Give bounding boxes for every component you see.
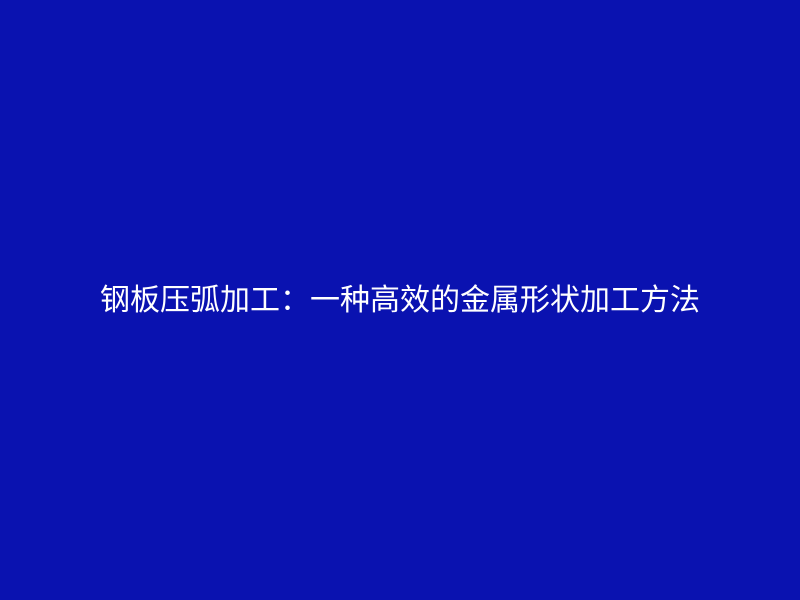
page-title: 钢板压弧加工：一种高效的金属形状加工方法	[0, 286, 800, 316]
title-slide: 钢板压弧加工：一种高效的金属形状加工方法	[0, 0, 800, 600]
headline-container: 钢板压弧加工：一种高效的金属形状加工方法	[0, 0, 800, 600]
